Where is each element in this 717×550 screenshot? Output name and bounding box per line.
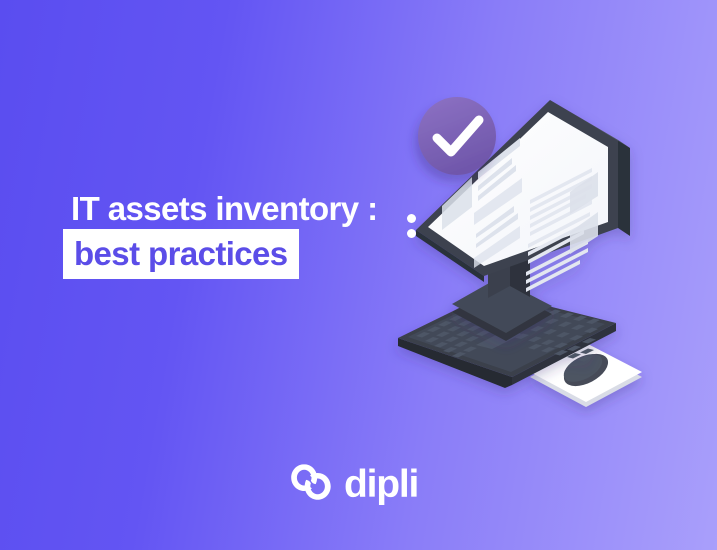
interlocking-rings-logo-mark-icon: [289, 462, 333, 507]
brand-name: dipli: [344, 465, 418, 504]
headline-highlight-box: best practices: [63, 229, 299, 279]
headline-block: IT assets inventory : best practices: [63, 192, 463, 279]
brand-logo[interactable]: dipli: [289, 462, 418, 507]
promo-banner: IT assets inventory : best practices dip…: [0, 0, 717, 550]
headline-line-1: IT assets inventory :: [71, 192, 463, 225]
checkmark-badge: [418, 97, 496, 175]
headline-line-2: best practices: [74, 235, 288, 272]
